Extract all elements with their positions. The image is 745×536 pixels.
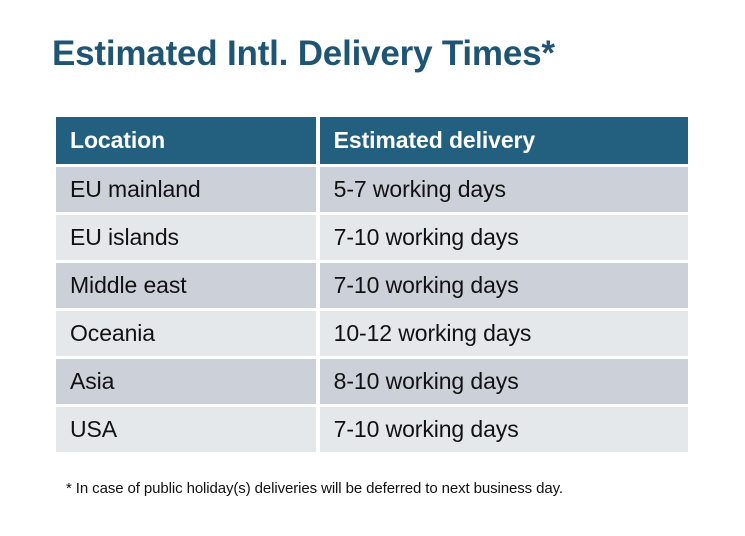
delivery-times-table: Location Estimated delivery EU mainland … — [52, 114, 692, 455]
cell-delivery: 7-10 working days — [320, 215, 688, 260]
cell-location: Oceania — [56, 311, 316, 356]
cell-location: Asia — [56, 359, 316, 404]
table-row: Middle east 7-10 working days — [56, 263, 688, 308]
cell-location: USA — [56, 407, 316, 452]
column-header-location: Location — [56, 117, 316, 164]
table-row: Oceania 10-12 working days — [56, 311, 688, 356]
cell-location: EU islands — [56, 215, 316, 260]
cell-delivery: 10-12 working days — [320, 311, 688, 356]
table-header: Location Estimated delivery — [56, 117, 688, 164]
table-body: EU mainland 5-7 working days EU islands … — [56, 167, 688, 452]
cell-delivery: 8-10 working days — [320, 359, 688, 404]
footnote: * In case of public holiday(s) deliverie… — [66, 480, 563, 497]
table-header-row: Location Estimated delivery — [56, 117, 688, 164]
delivery-times-page: Estimated Intl. Delivery Times* Location… — [0, 0, 745, 536]
column-header-estimated-delivery: Estimated delivery — [320, 117, 688, 164]
page-title: Estimated Intl. Delivery Times* — [52, 34, 555, 74]
table-row: EU islands 7-10 working days — [56, 215, 688, 260]
table-row: EU mainland 5-7 working days — [56, 167, 688, 212]
cell-delivery: 7-10 working days — [320, 263, 688, 308]
cell-location: Middle east — [56, 263, 316, 308]
cell-delivery: 7-10 working days — [320, 407, 688, 452]
cell-delivery: 5-7 working days — [320, 167, 688, 212]
table-row: USA 7-10 working days — [56, 407, 688, 452]
table-row: Asia 8-10 working days — [56, 359, 688, 404]
cell-location: EU mainland — [56, 167, 316, 212]
